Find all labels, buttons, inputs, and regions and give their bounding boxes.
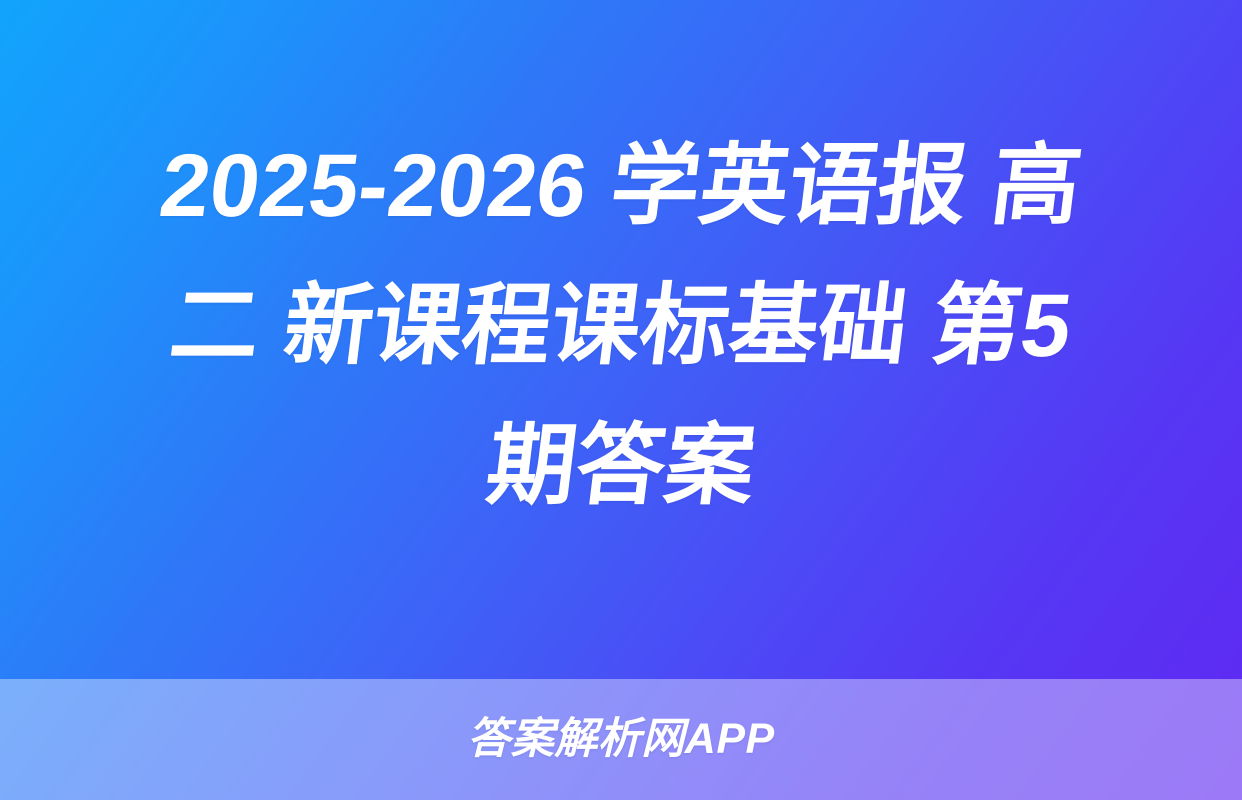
- page-title-line-2: 二 新课程课标基础 第5: [19, 255, 1222, 395]
- answer-cover-card: 2025-2026 学英语报 高 二 新课程课标基础 第5 期答案 答案解析网A…: [0, 0, 1242, 800]
- page-title-line-1: 2025-2026 学英语报 高: [19, 115, 1222, 255]
- page-title-line-3: 期答案: [19, 395, 1222, 535]
- title-block: 2025-2026 学英语报 高 二 新课程课标基础 第5 期答案: [0, 0, 1242, 679]
- watermark-label: 答案解析网APP: [467, 718, 774, 761]
- watermark-band: 答案解析网APP: [0, 679, 1242, 800]
